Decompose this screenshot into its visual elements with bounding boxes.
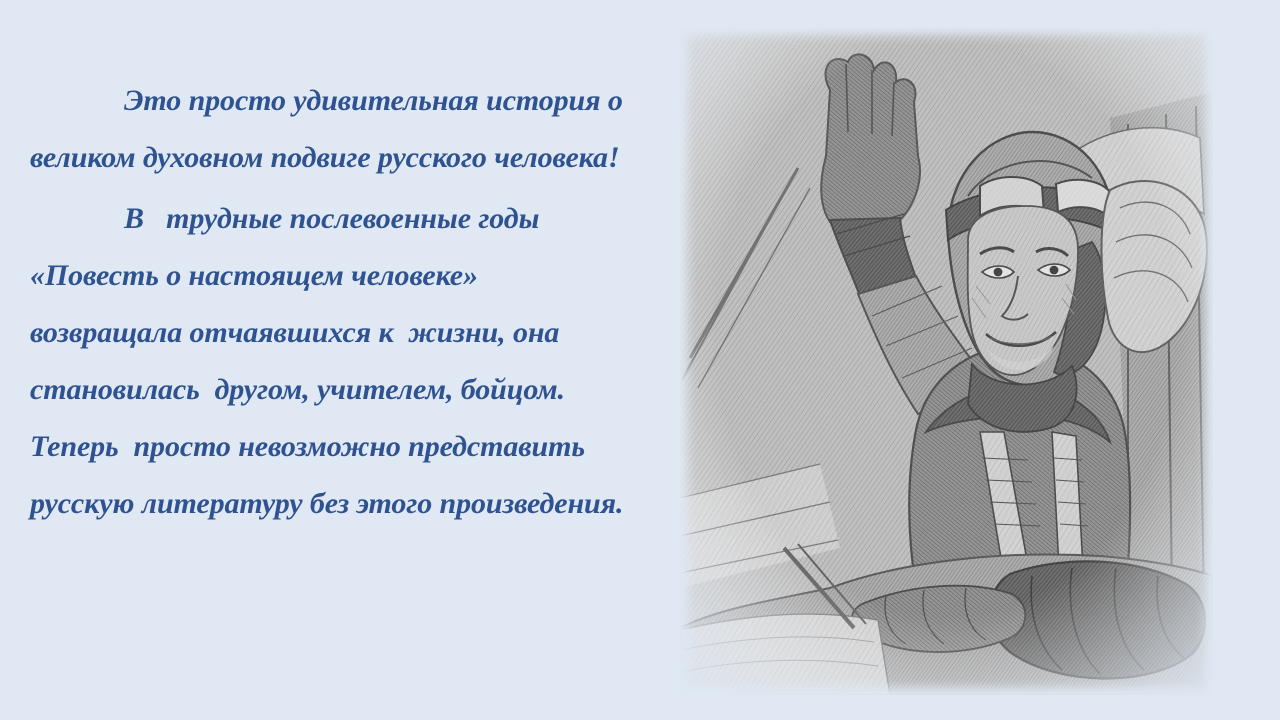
paragraph-intro: Это просто удивительная история о велико… [0, 72, 690, 186]
text-line: Теперь просто невозможно представить [0, 418, 690, 475]
paragraph-body: В трудные послевоенные годы «Повесть о н… [0, 190, 690, 532]
text-line: Это просто удивительная история о [0, 72, 690, 129]
pilot-sketch-illustration [680, 28, 1213, 695]
text-line: великом духовном подвиге русского челове… [0, 129, 690, 186]
pilot-sketch-svg [680, 28, 1213, 695]
text-line: возвращала отчаявшихся к жизни, она [0, 304, 690, 361]
text-column: Это просто удивительная история о велико… [0, 0, 690, 720]
slide-canvas: Это просто удивительная история о велико… [0, 0, 1280, 720]
text-line: В трудные послевоенные годы [0, 190, 690, 247]
text-line: «Повесть о настоящем человеке» [0, 247, 690, 304]
text-line: русскую литературу без этого произведени… [0, 475, 690, 532]
text-line: становилась другом, учителем, бойцом. [0, 361, 690, 418]
